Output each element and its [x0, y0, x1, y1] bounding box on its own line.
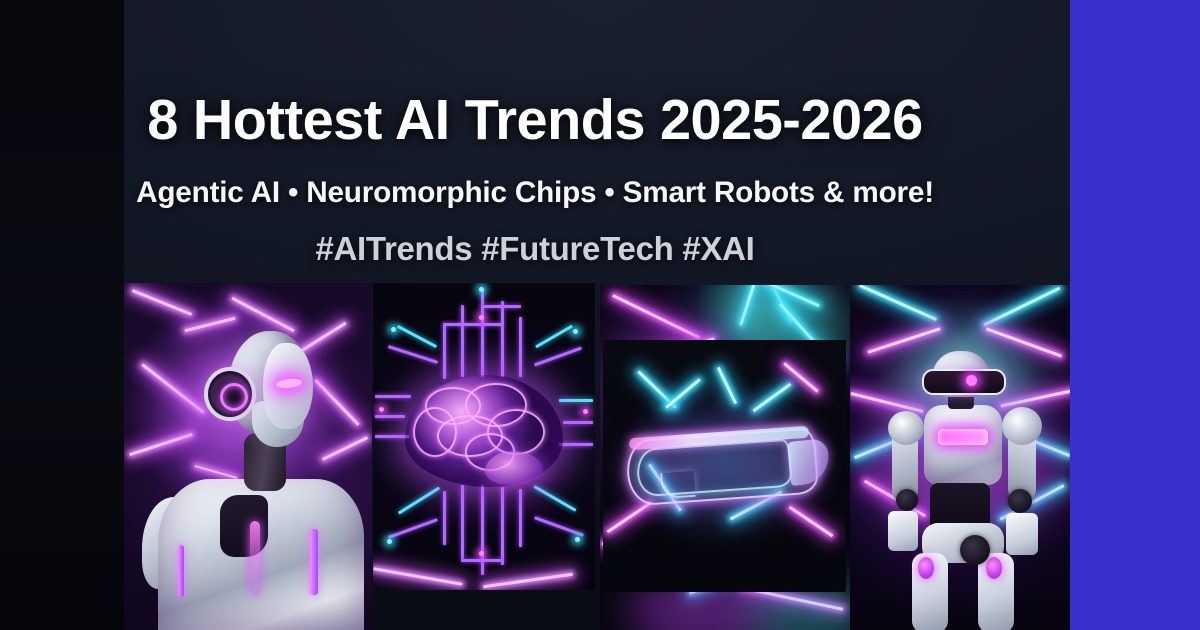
circuit-trace [461, 559, 503, 562]
robot-hip-joint [960, 535, 990, 565]
circuit-node [379, 407, 384, 412]
android-chest-vent [220, 495, 268, 557]
robot-chest-light [938, 429, 988, 445]
circuit-trace [519, 317, 522, 377]
robot-elbow-joint [896, 489, 918, 511]
circuit-trace [461, 485, 464, 559]
circuit-trace [481, 289, 484, 377]
social-share-card: 8 Hottest AI Trends 2025-2026 Agentic AI… [0, 0, 1200, 630]
circuit-trace [563, 421, 593, 424]
android-chest-light [250, 521, 260, 595]
circuit-node [391, 327, 396, 332]
panel-ar-glasses [603, 340, 846, 592]
circuit-node [583, 409, 588, 414]
right-accent-bar [1070, 0, 1200, 630]
panel-neuromorphic-chip [373, 283, 595, 590]
circuit-trace [481, 305, 521, 308]
robot-elbow-joint [1008, 489, 1032, 513]
circuit-trace [375, 435, 409, 438]
circuit-trace [443, 323, 446, 379]
circuit-trace [375, 395, 411, 398]
panel-android-bust [124, 283, 372, 630]
robot-torso [924, 405, 1002, 485]
robot-visor [922, 369, 1006, 395]
android-trim [178, 545, 184, 597]
circuit-trace [375, 415, 405, 418]
brain-gyrus [413, 407, 457, 457]
circuit-node [387, 539, 392, 544]
robot-left-knee-light [918, 557, 934, 579]
robot-right-shoulder [1002, 407, 1042, 445]
robot-left-shoulder [888, 411, 924, 445]
circuit-trace [443, 491, 446, 545]
robot-right-hand [1006, 513, 1038, 555]
android-ear-ring-light [220, 383, 248, 411]
circuit-trace [501, 487, 504, 565]
circuit-trace [461, 305, 464, 377]
panel-smart-robot [850, 285, 1072, 630]
circuit-node [573, 329, 578, 334]
brain-cerebellum [485, 451, 543, 485]
robot-visor-sensor-light [966, 375, 977, 386]
robot-right-knee-light [986, 557, 1002, 579]
circuit-trace [559, 443, 593, 446]
circuit-node [479, 551, 484, 556]
robot-left-hand [888, 511, 918, 551]
circuit-trace [443, 323, 503, 326]
circuit-trace [501, 301, 504, 377]
circuit-trace [519, 489, 522, 547]
circuit-node [479, 287, 484, 292]
circuit-node [575, 537, 580, 542]
circuit-node [479, 315, 484, 320]
circuit-trace [559, 399, 593, 402]
android-trim [310, 529, 318, 595]
left-dark-gutter [0, 0, 124, 630]
